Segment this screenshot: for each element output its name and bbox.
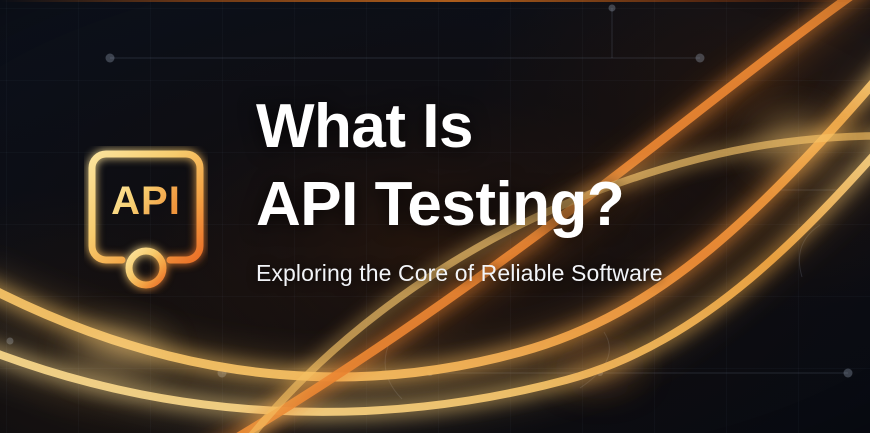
api-node-circle	[129, 251, 163, 285]
title-line-1: What Is	[256, 88, 816, 166]
title-line-2: API Testing?	[256, 166, 816, 244]
api-logo-label: API	[111, 179, 181, 223]
api-logo-mark: API	[84, 146, 208, 294]
banner-subtitle: Exploring the Core of Reliable Software	[256, 258, 816, 288]
banner-content: API What Is API Testing? Exploring the C…	[0, 0, 870, 433]
api-testing-banner: API What Is API Testing? Exploring the C…	[0, 0, 870, 433]
headline-block: What Is API Testing? Exploring the Core …	[256, 88, 816, 288]
